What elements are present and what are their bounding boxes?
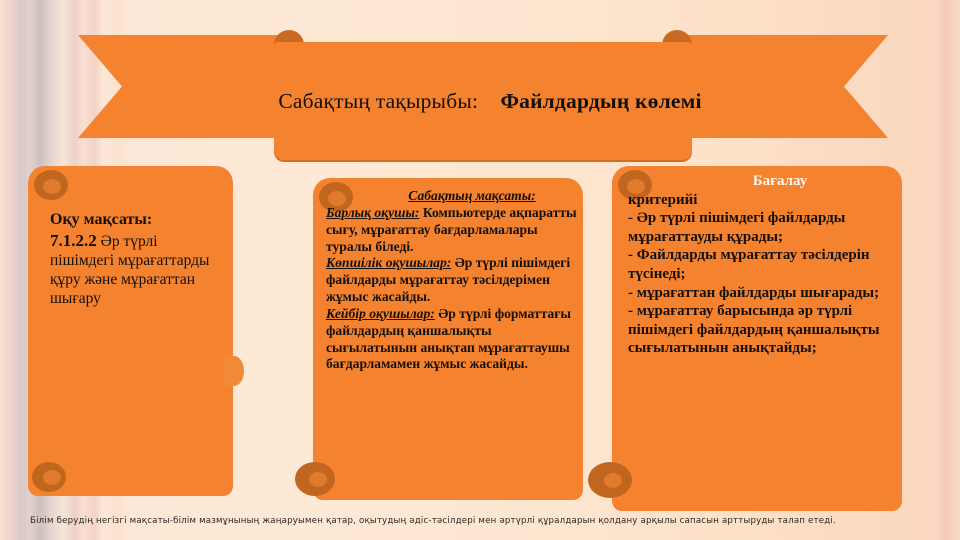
ribbon-tail-left: [78, 35, 278, 138]
card-mid-group-0-label: Барлық оқушы:: [326, 205, 419, 220]
title-main: Файлдардың көлемі: [500, 89, 701, 113]
card-mid-text: Сабақтың мақсаты: Барлық оқушы: Компьюте…: [326, 188, 584, 373]
scroll-nub-right: [224, 356, 244, 386]
ribbon-body: Сабақтың тақырыбы: Файлдардың көлемі: [274, 42, 692, 160]
card-mid-heading: Сабақтың мақсаты:: [326, 188, 584, 205]
ribbon-tail-right: [688, 35, 888, 138]
card-assessment-criteria: Бағалау критерийі - Әр түрлі пішімдегі ф…: [612, 166, 902, 511]
title-ribbon: Сабақтың тақырыбы: Файлдардың көлемі: [78, 30, 888, 170]
card-right-criterion-0: - Әр түрлі пішімдегі файлдарды мұрағатта…: [628, 210, 845, 245]
card-left-text: Оқу мақсаты: 7.1.2.2 Әр түрлі пішімдегі …: [50, 210, 225, 309]
scroll-curl-bottom-left-icon: [32, 462, 66, 492]
card-lesson-goal: Сабақтың мақсаты: Барлық оқушы: Компьюте…: [313, 178, 583, 500]
scroll-curl-bottom-left-icon: [588, 462, 632, 498]
card-learning-objective: Оқу мақсаты: 7.1.2.2 Әр түрлі пішімдегі …: [28, 166, 233, 496]
title-prefix: Сабақтың тақырыбы:: [278, 89, 478, 113]
page-title: Сабақтың тақырыбы: Файлдардың көлемі: [264, 89, 701, 114]
card-left-code: 7.1.2.2: [50, 231, 97, 250]
card-right-criterion-1: - Файлдарды мұрағаттау тәсілдерін түсіне…: [628, 247, 870, 282]
card-mid-group-2-label: Кейбір оқушылар:: [326, 306, 435, 321]
background-stripes-right: [922, 0, 960, 540]
card-mid-group-1-label: Көпшілік оқушылар:: [326, 255, 451, 270]
footer-note: Білім берудің негізгі мақсаты-білім мазм…: [30, 516, 930, 526]
scroll-curl-bottom-left-icon: [295, 462, 335, 496]
card-left-heading: Оқу мақсаты:: [50, 211, 152, 228]
card-right-text: Бағалау критерийі - Әр түрлі пішімдегі ф…: [628, 172, 904, 358]
card-right-criterion-2: - мұрағаттан файлдарды шығарады;: [628, 285, 879, 301]
card-right-heading-line1: Бағалау: [628, 172, 904, 191]
scroll-curl-top-left-icon: [34, 170, 68, 200]
card-right-heading-line2: критерийі: [628, 192, 697, 208]
slide-canvas: Сабақтың тақырыбы: Файлдардың көлемі Оқу…: [0, 0, 960, 540]
card-right-criterion-3: - мұрағаттау барысында әр түрлі пішімдег…: [628, 303, 880, 356]
